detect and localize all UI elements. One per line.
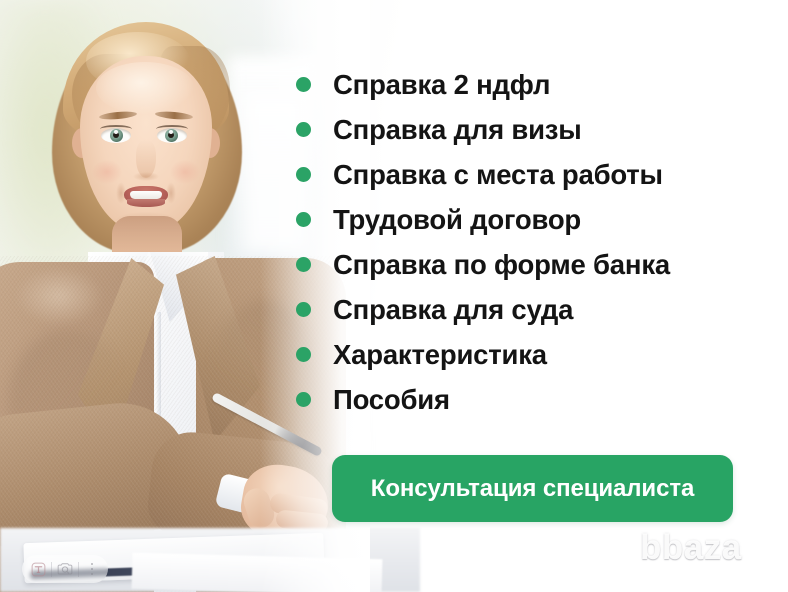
eyelash-right (156, 125, 188, 133)
lower-lip (127, 199, 165, 207)
three-dots (91, 563, 94, 576)
text-select-icon[interactable] (25, 557, 51, 581)
consultation-button[interactable]: Консультация специалиста (332, 455, 733, 522)
cheek-right (170, 160, 200, 184)
service-label: Трудовой договор (333, 206, 581, 234)
service-label: Характеристика (333, 341, 547, 369)
list-item: Характеристика (296, 332, 776, 377)
list-item: Справка для суда (296, 287, 776, 332)
bullet-icon (296, 212, 311, 227)
list-item: Справка 2 ндфл (296, 62, 776, 107)
list-item: Справка по форме банка (296, 242, 776, 287)
list-item: Справка для визы (296, 107, 776, 152)
forehead-highlight (96, 62, 194, 114)
lens-toolbar[interactable] (22, 555, 108, 583)
consultation-button-label: Консультация специалиста (371, 475, 694, 503)
advertisement-banner: Справка 2 ндфл Справка для визы Справка … (0, 0, 788, 592)
watermark: bbaza (640, 528, 742, 568)
overflow-menu-icon[interactable] (79, 557, 105, 581)
lens-camera-icon[interactable] (52, 557, 78, 581)
bullet-icon (296, 392, 311, 407)
neck-shadow (112, 216, 182, 250)
bullet-icon (296, 77, 311, 92)
service-label: Справка с места работы (333, 161, 663, 189)
services-list: Справка 2 ндфл Справка для визы Справка … (296, 62, 776, 422)
cheek-left (92, 160, 122, 184)
service-label: Справка 2 ндфл (333, 71, 550, 99)
shoulder-highlight (14, 266, 104, 326)
bullet-icon (296, 257, 311, 272)
bullet-icon (296, 347, 311, 362)
service-label: Пособия (333, 386, 450, 414)
teeth (130, 191, 162, 199)
bullet-icon (296, 122, 311, 137)
service-label: Справка для суда (333, 296, 573, 324)
bullet-icon (296, 167, 311, 182)
service-label: Справка для визы (333, 116, 582, 144)
list-item: Пособия (296, 377, 776, 422)
service-label: Справка по форме банка (333, 251, 670, 279)
nose-shadow (133, 172, 159, 181)
list-item: Трудовой договор (296, 197, 776, 242)
list-item: Справка с места работы (296, 152, 776, 197)
bullet-icon (296, 302, 311, 317)
eyelash-left (100, 125, 132, 133)
